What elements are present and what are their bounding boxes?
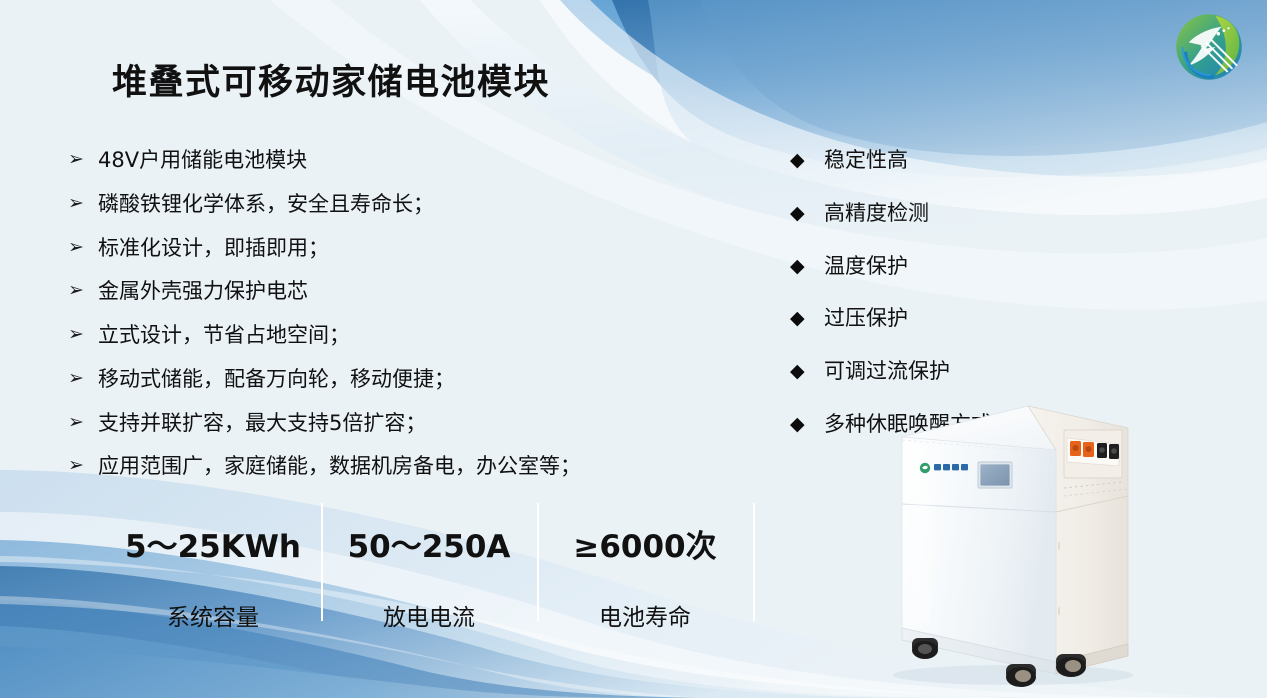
logo-icon (1170, 8, 1248, 86)
diamond-bullet-icon: ◆ (790, 148, 824, 173)
stat-label: 电池寿命 (599, 598, 691, 632)
caster-wheel (1056, 654, 1086, 677)
arrow-bullet-icon: ➢ (68, 279, 98, 303)
spec-stats-row: 5〜25KWh 系统容量 50〜250A 放电电流 ≥6000次 电池寿命 (105, 505, 753, 625)
list-item-label: 金属外壳强力保护电芯 (98, 279, 708, 304)
arrow-bullet-icon: ➢ (68, 323, 98, 347)
stat-value: 50〜250A (348, 521, 511, 566)
list-item-label: 48V户用储能电池模块 (98, 148, 708, 173)
list-item: ◆ 温度保护 (790, 254, 1090, 279)
diamond-bullet-icon: ◆ (790, 254, 824, 279)
stat-label: 放电电流 (383, 598, 475, 632)
list-item-label: 温度保护 (824, 254, 1090, 279)
list-item: ◆ 高精度检测 (790, 201, 1090, 226)
diamond-bullet-icon: ◆ (790, 306, 824, 331)
arrow-bullet-icon: ➢ (68, 411, 98, 435)
caster-wheel (1006, 664, 1036, 687)
list-item: ◆ 稳定性高 (790, 148, 1090, 173)
arrow-bullet-icon: ➢ (68, 192, 98, 216)
stat-label: 系统容量 (167, 598, 259, 632)
list-item-label: 支持并联扩容，最大支持5倍扩容； (98, 411, 708, 436)
spec-stat-capacity: 5〜25KWh 系统容量 (105, 505, 321, 625)
arrow-bullet-icon: ➢ (68, 454, 98, 478)
spec-stat-cycle-life: ≥6000次 电池寿命 (537, 505, 753, 625)
feature-list-left: ➢ 48V户用储能电池模块 ➢ 磷酸铁锂化学体系，安全且寿命长； ➢ 标准化设计… (68, 148, 708, 498)
list-item-label: 稳定性高 (824, 148, 1090, 173)
caster-wheel (912, 638, 938, 659)
stat-value: 5〜25KWh (125, 521, 301, 566)
product-image-battery-cabinet (878, 392, 1146, 692)
arrow-bullet-icon: ➢ (68, 367, 98, 391)
spec-stat-current: 50〜250A 放电电流 (321, 505, 537, 625)
diamond-bullet-icon: ◆ (790, 201, 824, 226)
list-item: ➢ 支持并联扩容，最大支持5倍扩容； (68, 411, 708, 436)
list-item-label: 可调过流保护 (824, 359, 1090, 384)
page-title: 堆叠式可移动家储电池模块 (112, 54, 550, 105)
list-item: ➢ 标准化设计，即插即用； (68, 236, 708, 261)
slide-root: 堆叠式可移动家储电池模块 ➢ 48V户用储能电池模块 ➢ 磷酸铁锂化学体系，安全… (0, 0, 1267, 698)
list-item: ◆ 过压保护 (790, 306, 1090, 331)
list-item: ➢ 移动式储能，配备万向轮，移动便捷； (68, 367, 708, 392)
list-item: ➢ 磷酸铁锂化学体系，安全且寿命长； (68, 192, 708, 217)
diamond-bullet-icon: ◆ (790, 412, 824, 437)
company-logo (1170, 8, 1248, 86)
list-item: ➢ 应用范围广，家庭储能，数据机房备电，办公室等； (68, 454, 708, 479)
list-item-label: 立式设计，节省占地空间； (98, 323, 708, 348)
list-item-label: 过压保护 (824, 306, 1090, 331)
arrow-bullet-icon: ➢ (68, 236, 98, 260)
list-item-label: 磷酸铁锂化学体系，安全且寿命长； (98, 192, 708, 217)
list-item-label: 标准化设计，即插即用； (98, 236, 708, 261)
list-item: ➢ 48V户用储能电池模块 (68, 148, 708, 173)
battery-cabinet-illustration (878, 392, 1146, 692)
arrow-bullet-icon: ➢ (68, 148, 98, 172)
list-item-label: 移动式储能，配备万向轮，移动便捷； (98, 367, 708, 392)
list-item-label: 应用范围广，家庭储能，数据机房备电，办公室等； (98, 454, 708, 479)
stat-value: ≥6000次 (573, 521, 716, 566)
diamond-bullet-icon: ◆ (790, 359, 824, 384)
list-item: ➢ 立式设计，节省占地空间； (68, 323, 708, 348)
list-item: ◆ 可调过流保护 (790, 359, 1090, 384)
list-item-label: 高精度检测 (824, 201, 1090, 226)
list-item: ➢ 金属外壳强力保护电芯 (68, 279, 708, 304)
